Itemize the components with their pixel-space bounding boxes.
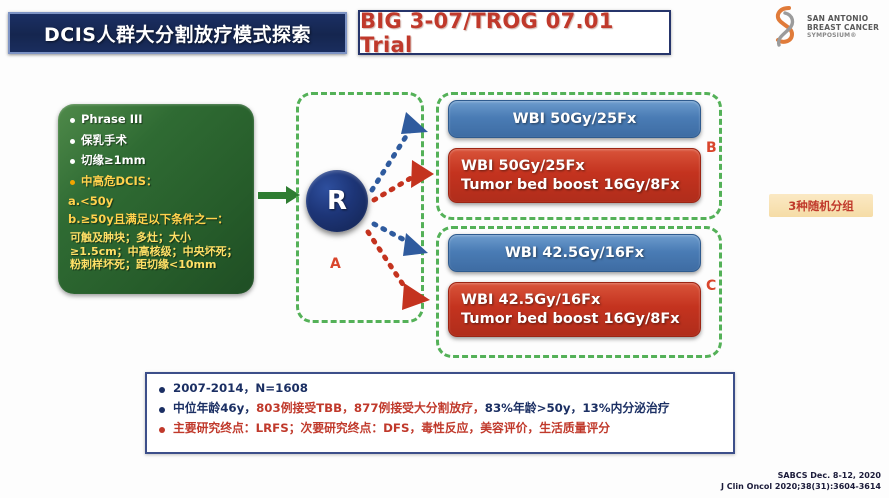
bullet-icon <box>70 139 75 144</box>
bullet-icon <box>70 180 75 185</box>
summary-demographics-post: 83%年龄>50y，13%内分泌治疗 <box>485 401 670 415</box>
group-a-label: A <box>330 256 341 272</box>
arm-b-standard-label: WBI 50Gy/25Fx <box>513 110 637 129</box>
criteria-item: 切缘≥1mm <box>68 154 246 166</box>
study-summary-box: 2007-2014，N=1608 中位年龄46y，803例接受TBB，877例接… <box>145 372 735 454</box>
trial-name-text: BIG 3-07/TROG 07.01 Trial <box>360 9 669 57</box>
bullet-icon <box>70 159 75 164</box>
page-title: DCIS人群大分割放疗模式探索 <box>8 12 347 54</box>
logo-line-2: BREAST CANCER <box>807 24 879 33</box>
arm-c-standard-label: WBI 42.5Gy/16Fx <box>505 244 644 263</box>
sabcs-logo-icon <box>765 5 805 51</box>
group-c-label: C <box>706 278 716 294</box>
criteria-item: 中高危DCIS： <box>68 175 246 187</box>
summary-row: 中位年龄46y，803例接受TBB，877例接受大分割放疗，83%年龄>50y，… <box>159 402 723 415</box>
criteria-item-label: 中高危DCIS： <box>81 175 158 187</box>
randomization-node-label: R <box>327 186 347 216</box>
arm-c-boost-box: WBI 42.5Gy/16Fx Tumor bed boost 16Gy/8Fx <box>448 282 701 337</box>
group-b-label: B <box>706 140 717 156</box>
arm-b-boost-line2: Tumor bed boost 16Gy/8Fx <box>461 176 680 195</box>
criteria-line-a: a.<50y <box>68 195 246 207</box>
arm-b-boost-box: WBI 50Gy/25Fx Tumor bed boost 16Gy/8Fx <box>448 148 701 203</box>
slide-canvas: DCIS人群大分割放疗模式探索 BIG 3-07/TROG 07.01 Tria… <box>0 0 889 498</box>
arm-b-standard-box: WBI 50Gy/25Fx <box>448 100 701 138</box>
bullet-icon <box>159 407 165 413</box>
criteria-item-label: Phrase III <box>81 113 143 125</box>
citation-journal: J Clin Oncol 2020;38(31):3604-3614 <box>721 481 881 492</box>
summary-endpoints: 主要研究终点：LRFS；次要研究终点：DFS，毒性反应，美容评价，生活质量评分 <box>173 422 610 435</box>
bullet-icon <box>70 118 75 123</box>
summary-demographics-pre: 中位年龄46y， <box>173 401 256 415</box>
logo-line-3: SYMPOSIUM® <box>807 32 879 41</box>
arm-b-boost-line1: WBI 50Gy/25Fx <box>461 157 585 176</box>
randomization-note-text: 3种随机分组 <box>788 198 854 214</box>
criteria-item-label: 切缘≥1mm <box>81 154 146 166</box>
summary-demographics: 中位年龄46y，803例接受TBB，877例接受大分割放疗，83%年龄>50y，… <box>173 402 670 415</box>
criteria-item: 保乳手术 <box>68 134 246 146</box>
summary-row: 主要研究终点：LRFS；次要研究终点：DFS，毒性反应，美容评价，生活质量评分 <box>159 422 723 435</box>
randomization-node: R <box>306 170 368 232</box>
page-title-text: DCIS人群大分割放疗模式探索 <box>44 20 311 47</box>
summary-enrollment: 2007-2014，N=1608 <box>173 382 308 395</box>
citation: SABCS Dec. 8-12, 2020 J Clin Oncol 2020;… <box>721 470 881 492</box>
criteria-sub-conditions: 可触及肿块；多灶；大小≥1.5cm；中高核级；中央坏死；粉刺样坏死；距切缘<10… <box>68 231 246 271</box>
criteria-line-b: b.≥50y且满足以下条件之一： <box>68 213 246 225</box>
arm-c-boost-line2: Tumor bed boost 16Gy/8Fx <box>461 310 680 329</box>
citation-conference: SABCS Dec. 8-12, 2020 <box>721 470 881 481</box>
summary-row: 2007-2014，N=1608 <box>159 382 723 395</box>
arm-c-boost-line1: WBI 42.5Gy/16Fx <box>461 291 600 310</box>
eligibility-criteria-box: Phrase III 保乳手术 切缘≥1mm 中高危DCIS： a.<50y b… <box>58 104 254 294</box>
criteria-item: Phrase III <box>68 113 246 125</box>
arm-c-standard-box: WBI 42.5Gy/16Fx <box>448 234 701 272</box>
sabcs-logo-text: SAN ANTONIO BREAST CANCER SYMPOSIUM® <box>805 15 879 41</box>
bullet-icon <box>159 387 165 393</box>
criteria-item-label: 保乳手术 <box>81 134 127 146</box>
summary-demographics-highlight: 803例接受TBB，877例接受大分割放疗， <box>256 401 485 415</box>
bullet-icon <box>159 427 165 433</box>
randomization-note-badge: 3种随机分组 <box>769 194 873 217</box>
trial-name-box: BIG 3-07/TROG 07.01 Trial <box>358 10 671 55</box>
sabcs-logo: SAN ANTONIO BREAST CANCER SYMPOSIUM® <box>765 2 883 54</box>
